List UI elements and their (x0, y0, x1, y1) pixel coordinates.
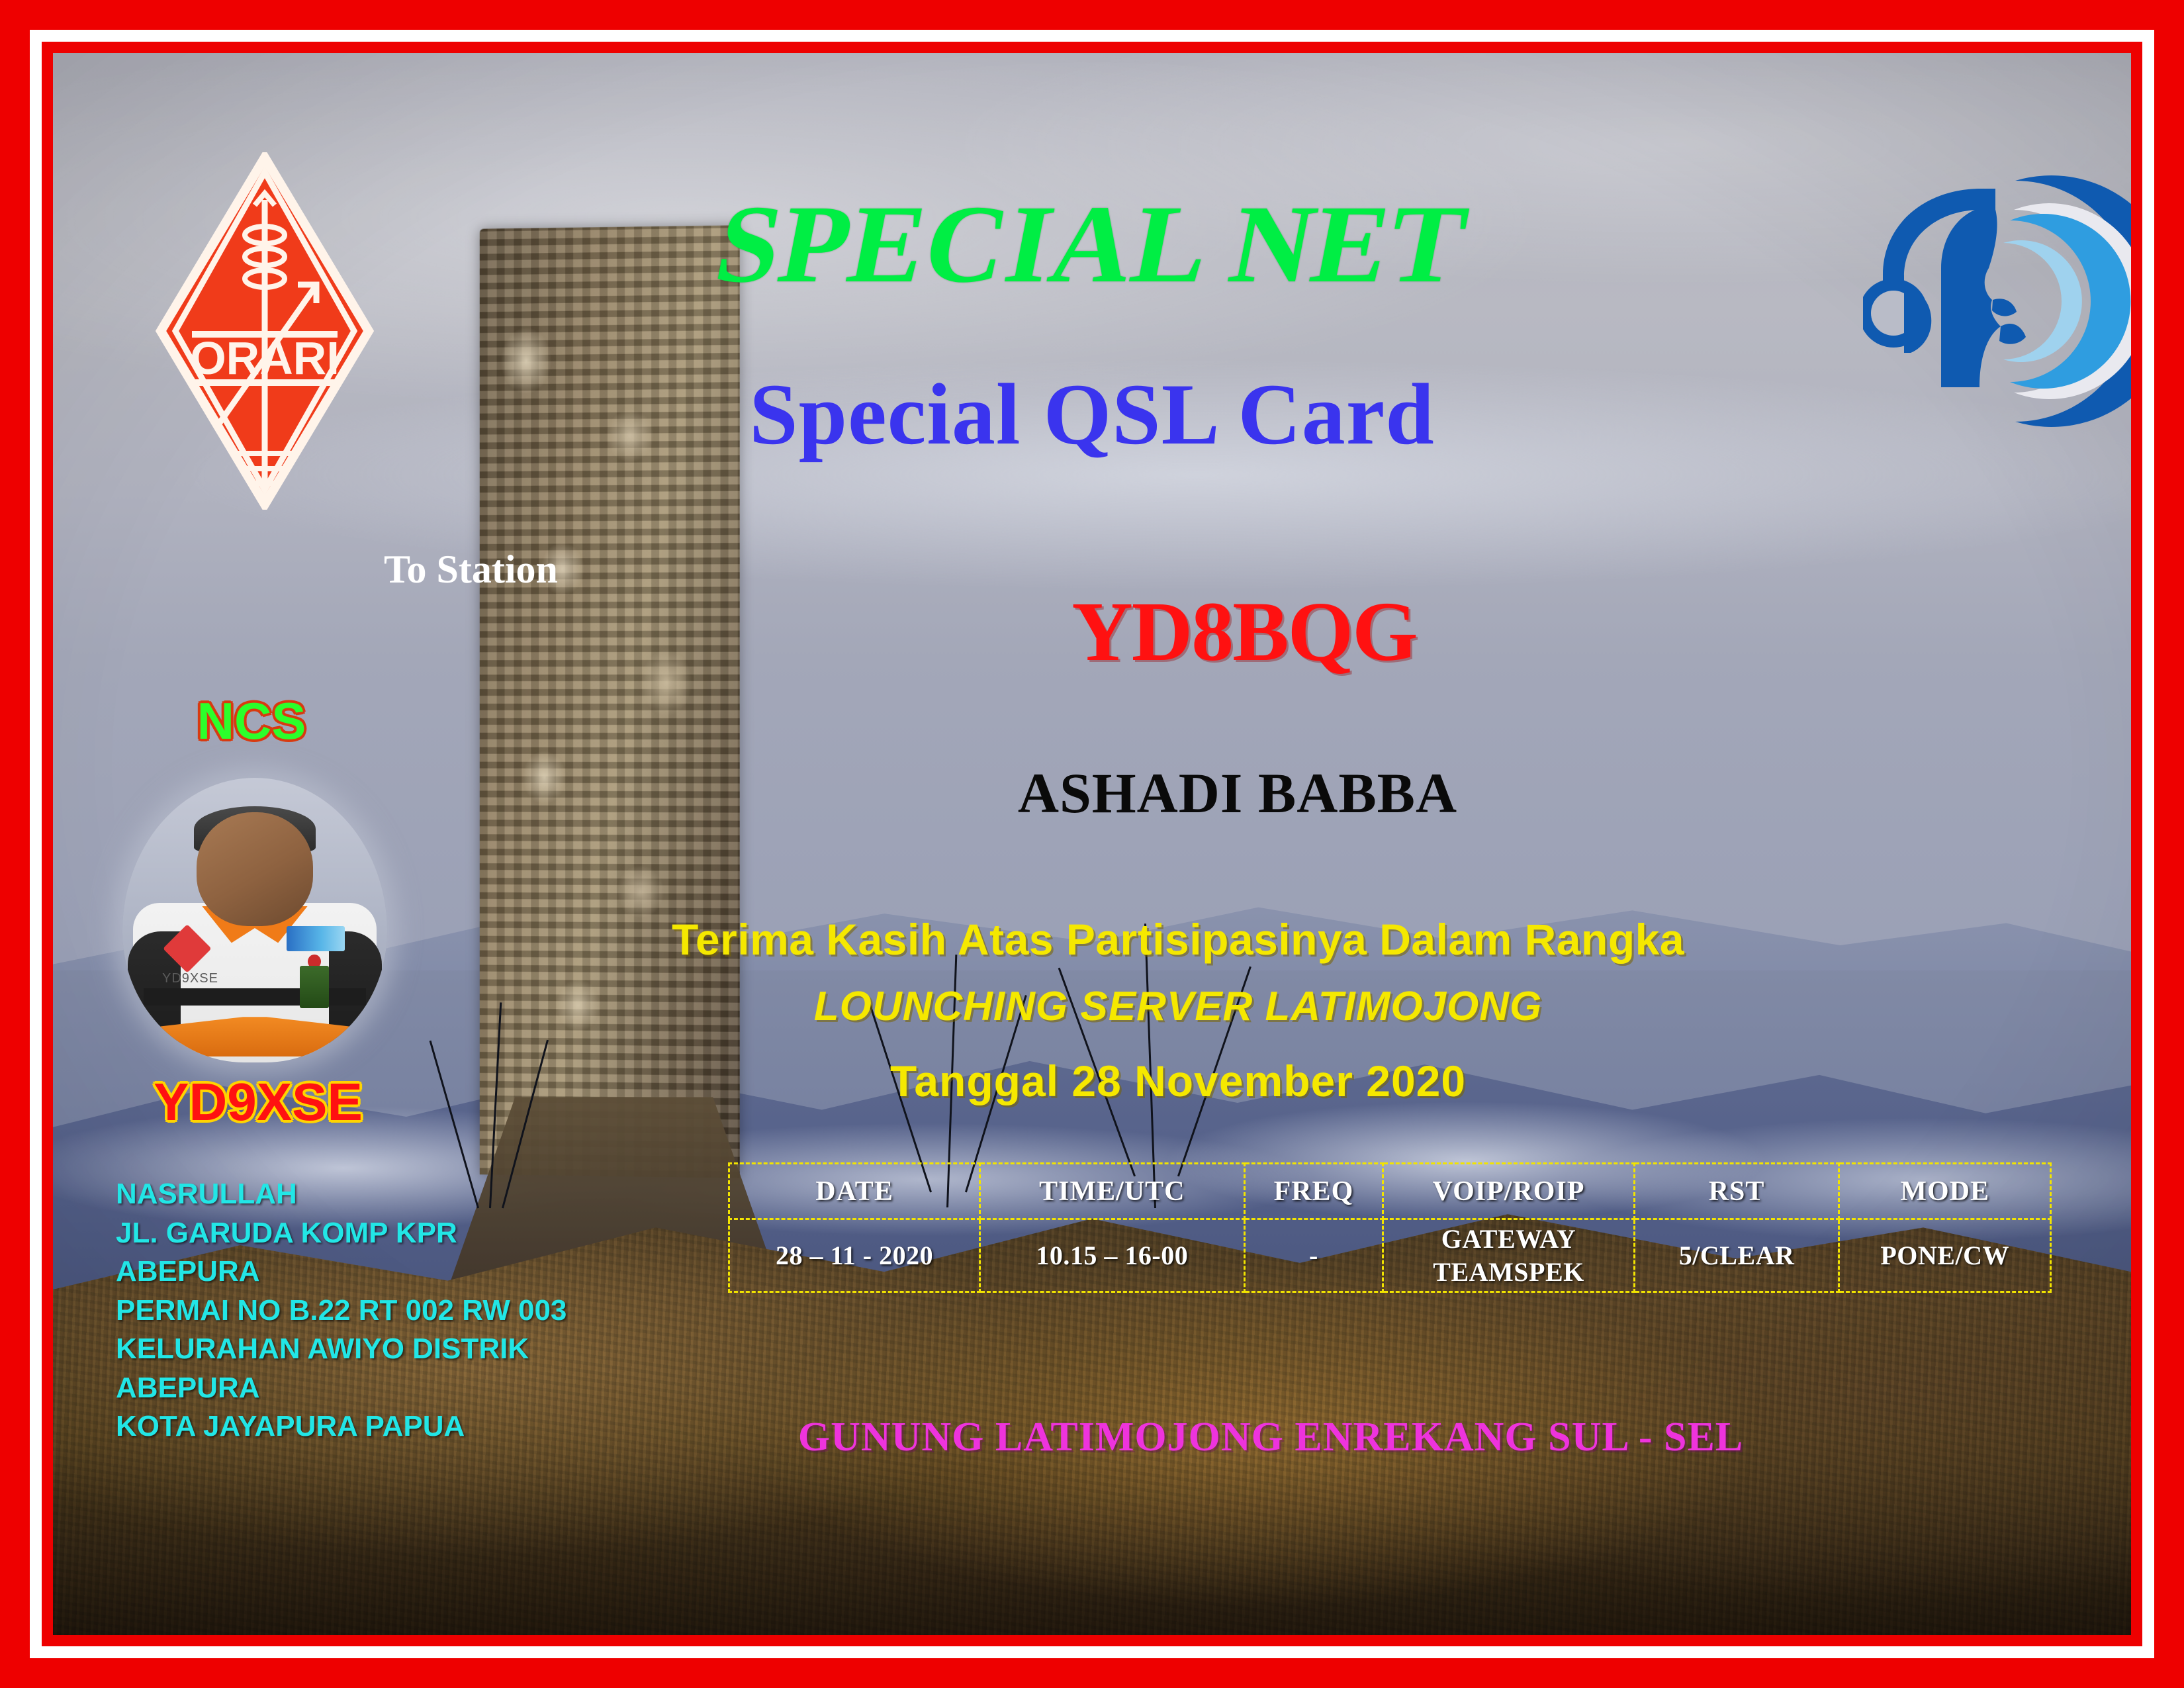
station-callsign: YD8BQG (1071, 589, 1416, 674)
address-line: KOTA JAYAPURA PAPUA (116, 1407, 567, 1446)
ncs-callsign: YD9XSE (154, 1076, 363, 1129)
photo-id-card (300, 966, 329, 1009)
address-line: PERMAI NO B.22 RT 002 RW 003 (116, 1291, 567, 1331)
cell-date: 28 – 11 - 2020 (729, 1219, 980, 1292)
location-line: GUNUNG LATIMOJONG ENREKANG SUL - SEL (798, 1417, 1743, 1458)
address-line: NASRULLAH (116, 1175, 567, 1214)
ncs-label: NCS (197, 695, 306, 747)
column-header-freq: FREQ (1244, 1164, 1383, 1219)
qso-log-table: DATE TIME/UTC FREQ VOIP/ROIP RST MODE 28… (728, 1162, 2052, 1293)
qsl-card: ORARI (0, 0, 2184, 1688)
photo-belt (144, 988, 366, 1006)
table-row: 28 – 11 - 2020 10.15 – 16-00 - GATEWAY T… (729, 1219, 2051, 1292)
column-header-date: DATE (729, 1164, 980, 1219)
cell-mode: PONE/CW (1839, 1219, 2051, 1292)
page-title-special-net: SPECIAL NET (707, 189, 1476, 300)
card-background-photo: ORARI (53, 53, 2131, 1635)
column-header-mode: MODE (1839, 1164, 2051, 1219)
cell-time: 10.15 – 16-00 (980, 1219, 1244, 1292)
orari-logo-text: ORARI (190, 332, 340, 384)
address-line: ABEPURA (116, 1252, 567, 1291)
operator-name: ASHADI BABBA (1018, 765, 1457, 821)
column-header-voip: VOIP/ROIP (1383, 1164, 1635, 1219)
ncs-address-block: NASRULLAH JL. GARUDA KOMP KPR ABEPURA PE… (116, 1175, 567, 1446)
cell-rst: 5/CLEAR (1634, 1219, 1839, 1292)
cell-voip: GATEWAY TEAMSPEK (1383, 1219, 1635, 1292)
address-line: ABEPURA (116, 1369, 567, 1408)
cell-voip-line1: GATEWAY (1388, 1223, 1629, 1256)
page-subtitle-qsl-card: Special QSL Card (749, 371, 1435, 458)
column-header-time: TIME/UTC (980, 1164, 1244, 1219)
photo-org-patch (287, 926, 345, 952)
address-line: KELURAHAN AWIYO DISTRIK (116, 1330, 567, 1369)
stone-cairn-monument (479, 225, 739, 1178)
column-header-rst: RST (1634, 1164, 1839, 1219)
thanks-line-3: Tanggal 28 November 2020 (890, 1059, 1466, 1103)
address-line: JL. GARUDA KOMP KPR (116, 1214, 567, 1253)
cell-freq: - (1244, 1219, 1383, 1292)
thanks-line-2: LOUNCHING SERVER LATIMOJONG (814, 986, 1543, 1027)
radio-head-headphones-logo (1863, 169, 2131, 434)
to-station-label: To Station (384, 549, 558, 589)
photo-face (197, 812, 313, 926)
cell-voip-line2: TEAMSPEK (1388, 1256, 1629, 1289)
thanks-line-1: Terima Kasih Atas Partisipasinya Dalam R… (672, 917, 1684, 961)
orari-diamond-logo: ORARI (156, 152, 374, 510)
table-header-row: DATE TIME/UTC FREQ VOIP/ROIP RST MODE (729, 1164, 2051, 1219)
photo-callsign-embroidery: YD9XSE (162, 971, 218, 986)
